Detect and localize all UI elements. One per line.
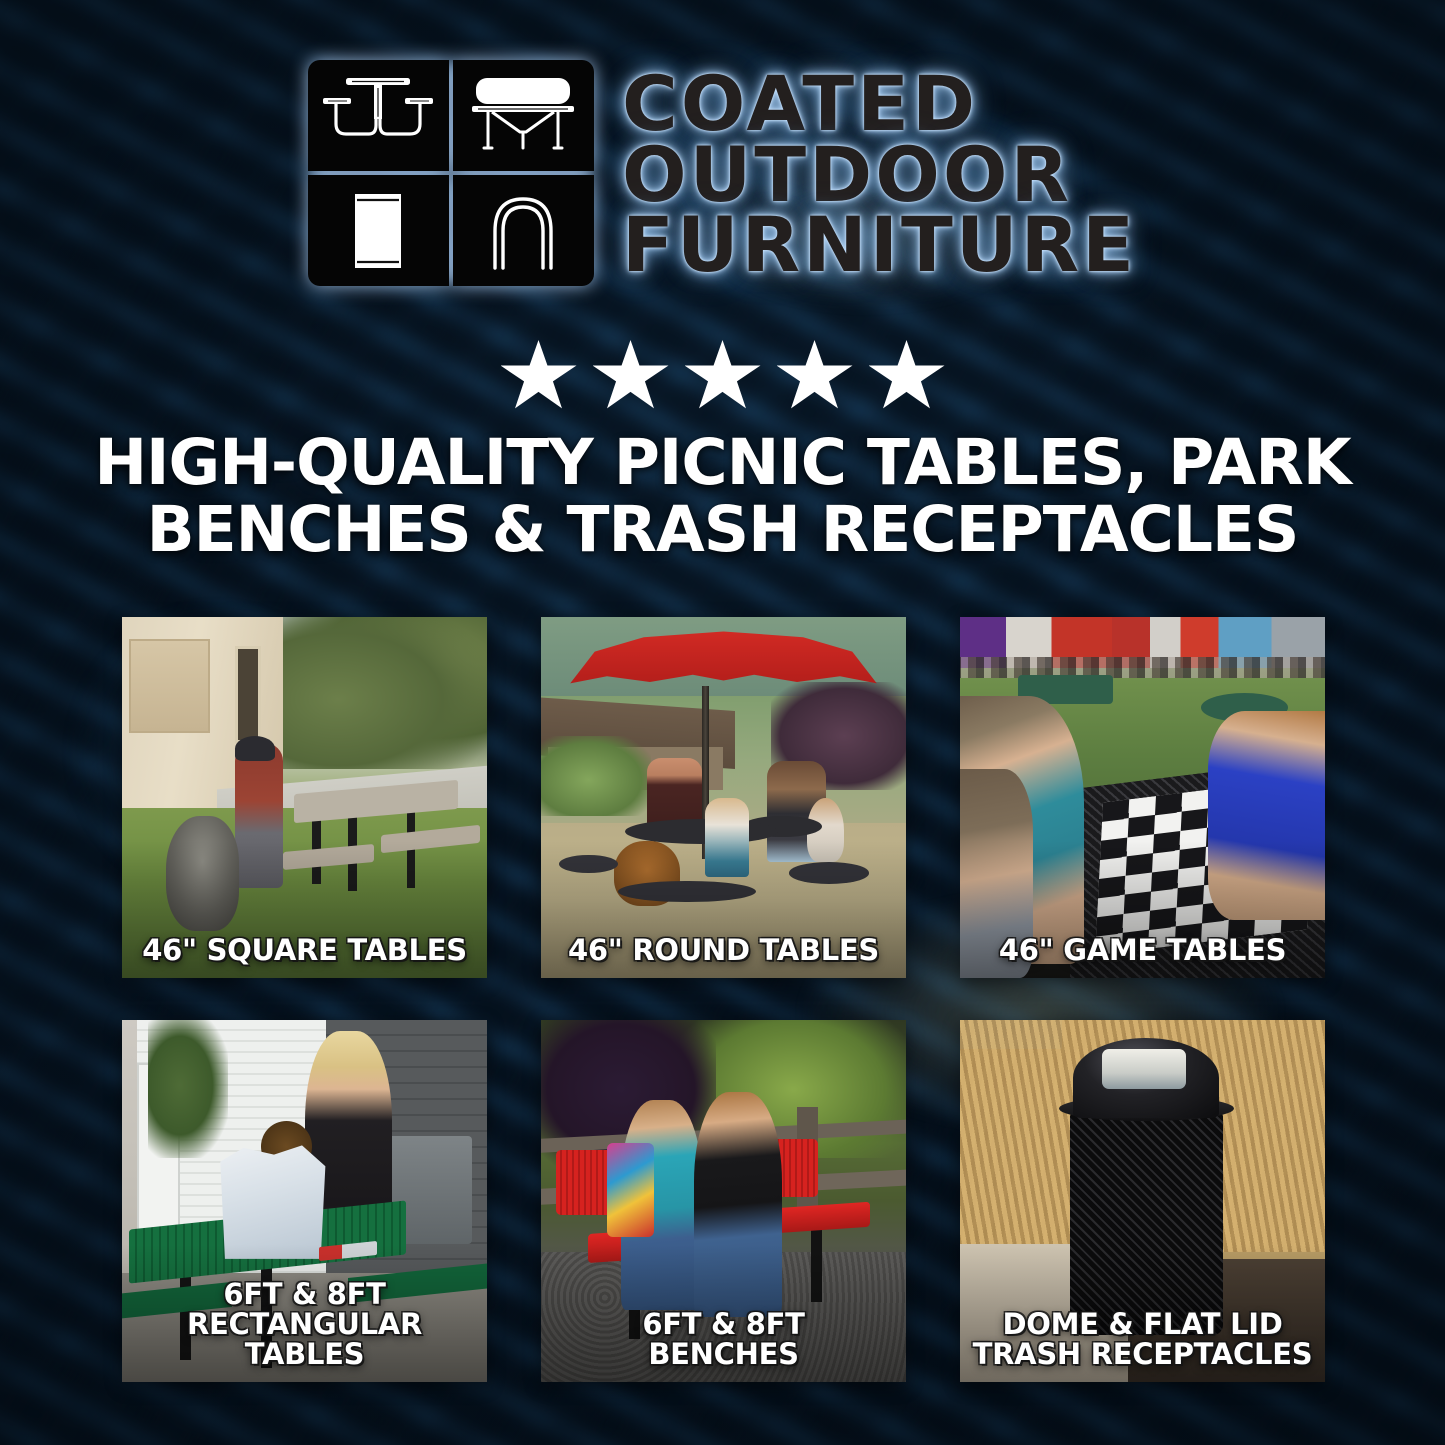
product-caption-line-1: 46" GAME TABLES [966,935,1319,965]
product-caption-line-1: 46" SQUARE TABLES [128,935,481,965]
product-caption: 46" GAME TABLES [966,935,1319,965]
brand-logo: COATED OUTDOOR FURNITURE [0,60,1445,286]
product-photo-game-tables [960,617,1325,978]
product-tile-game-tables[interactable]: 46" GAME TABLES [960,617,1325,978]
logo-icon-grid [308,60,594,286]
page-title: HIGH-QUALITY PICNIC TABLES, PARK BENCHES… [0,430,1445,564]
brand-name: COATED OUTDOOR FURNITURE [622,65,1137,281]
star-icon [869,340,945,412]
product-tile-trash-receptacles[interactable]: DOME & FLAT LID TRASH RECEPTACLES [960,1020,1325,1382]
product-photo-square-tables [122,617,487,978]
brand-name-line-3: FURNITURE [622,210,1137,281]
product-caption: 6FT & 8FT RECTANGULAR TABLES [128,1279,481,1369]
poster-canvas: COATED OUTDOOR FURNITURE HIGH-QUALITY PI… [0,0,1445,1445]
headline-line-2: BENCHES & TRASH RECEPTACLES [70,497,1375,564]
product-caption-line-1: DOME & FLAT LID [966,1309,1319,1339]
star-icon [685,340,761,412]
product-caption-line-1: 6FT & 8FT [128,1279,481,1309]
park-bench-icon [453,60,594,171]
poster-content: COATED OUTDOOR FURNITURE HIGH-QUALITY PI… [0,0,1445,1445]
product-caption: 6FT & 8FT BENCHES [547,1309,900,1369]
bike-rack-icon [453,175,594,286]
star-icon [593,340,669,412]
star-icon [777,340,853,412]
product-caption-line-2: TRASH RECEPTACLES [966,1339,1319,1369]
product-tile-square-tables[interactable]: 46" SQUARE TABLES [122,617,487,978]
trash-receptacle-icon [308,175,449,286]
product-tile-round-tables[interactable]: 46" ROUND TABLES [541,617,906,978]
product-grid: 46" SQUARE TABLES [122,617,1325,1382]
product-caption-line-1: 6FT & 8FT [547,1309,900,1339]
product-caption-line-2: RECTANGULAR TABLES [128,1309,481,1369]
headline-line-1: HIGH-QUALITY PICNIC TABLES, PARK [70,430,1375,497]
product-photo-round-tables [541,617,906,978]
product-caption-line-2: BENCHES [547,1339,900,1369]
product-caption-line-1: 46" ROUND TABLES [547,935,900,965]
picnic-table-icon [308,60,449,171]
product-caption: DOME & FLAT LID TRASH RECEPTACLES [966,1309,1319,1369]
star-rating [0,340,1445,412]
product-tile-benches[interactable]: 6FT & 8FT BENCHES [541,1020,906,1382]
product-tile-rectangular-tables[interactable]: 6FT & 8FT RECTANGULAR TABLES [122,1020,487,1382]
product-caption: 46" SQUARE TABLES [128,935,481,965]
product-caption: 46" ROUND TABLES [547,935,900,965]
star-icon [501,340,577,412]
